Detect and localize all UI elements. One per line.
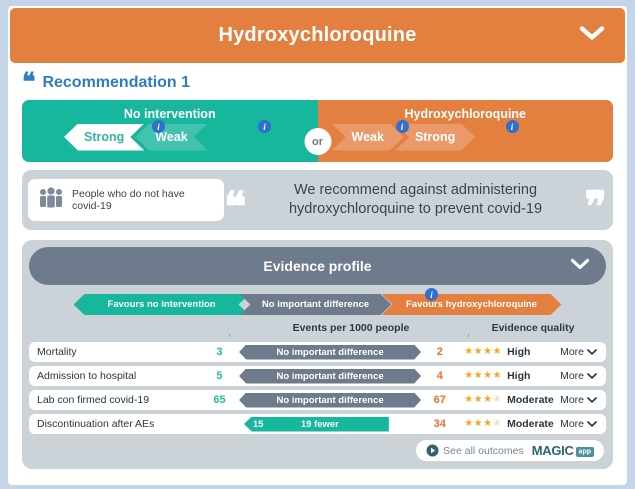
outcome-name: Lab con firmed covid-19 [29, 394, 200, 406]
more-button[interactable]: More [560, 346, 606, 358]
recommendation-strength-bar: No intervention Strong i Weak i Hydroxyc… [22, 100, 613, 162]
quality-label: Moderate [507, 418, 554, 430]
recommendation-heading: ❝ Recommendation 1 [8, 63, 627, 100]
intervention-events: 34 [421, 418, 458, 430]
strength-option-weak-intervention[interactable]: Weak [332, 124, 404, 151]
strength-side-no-intervention: No intervention Strong i Weak i [22, 100, 318, 162]
chevron-down-icon [587, 421, 597, 428]
favours-no-difference[interactable]: No important difference [240, 294, 392, 315]
card-header[interactable]: Hydroxychloroquine [10, 8, 625, 63]
effect-bar[interactable]: No important difference [239, 345, 422, 360]
magic-brand: MAGIC [532, 443, 574, 458]
quote-open-icon: ❝ [22, 77, 35, 89]
table-row[interactable]: Admission to hospital 5 No important dif… [29, 366, 606, 386]
evidence-quality: ★★★★ Moderate [458, 418, 560, 430]
more-button[interactable]: More [560, 418, 606, 430]
column-header-events: Events per 1000 people [225, 322, 477, 334]
magic-brand-tag: app [576, 447, 594, 457]
table-row[interactable]: Lab con firmed covid-19 65 No important … [29, 390, 606, 410]
favours-label: No important difference [262, 299, 369, 310]
effect-label: No important difference [239, 345, 421, 360]
evidence-quality: ★★★★ High [458, 370, 560, 382]
play-circle-icon [426, 444, 439, 457]
chevron-down-icon [587, 373, 597, 380]
effect-bar[interactable]: No important difference [239, 369, 422, 384]
column-header-quality: Evidence quality [481, 322, 585, 334]
intervention-events: 2 [421, 346, 458, 358]
see-all-outcomes-button[interactable]: See all outcomes [426, 444, 524, 457]
quality-stars: ★★★★ [464, 347, 502, 357]
intervention-events: 4 [421, 370, 458, 382]
page-root: Hydroxychloroquine ❝ Recommendation 1 No… [0, 0, 635, 489]
control-events: 15 [253, 419, 279, 430]
people-icon [38, 187, 64, 214]
chevron-down-icon [587, 349, 597, 356]
info-icon[interactable]: i [258, 120, 271, 133]
see-all-outcomes-label: See all outcomes [443, 445, 524, 457]
more-label: More [560, 346, 584, 358]
favours-intervention[interactable]: Favours hydroxychloroquine [382, 294, 562, 315]
more-button[interactable]: More [560, 394, 606, 406]
or-label: or [312, 136, 323, 148]
table-row[interactable]: Mortality 3 No important difference 2 ★★… [29, 342, 606, 362]
more-label: More [560, 394, 584, 406]
table-row[interactable]: Discontinuation after AEs 15 19 fewer 34… [29, 414, 606, 434]
chevron-down-icon [587, 397, 597, 404]
intervention-events: 67 [421, 394, 458, 406]
effect-bar-fewer: 15 19 fewer [244, 417, 389, 432]
strength-option-weak-no-intervention[interactable]: Weak [135, 124, 207, 151]
evidence-quality: ★★★★ High [458, 346, 560, 358]
recommendation-statement: We recommend against administering hydro… [247, 181, 585, 219]
favours-label: Favours hydroxychloroquine [406, 299, 537, 310]
favours-label: Favours no intervention [107, 299, 215, 310]
favours-legend: Favours no intervention No important dif… [29, 294, 606, 315]
info-icon[interactable]: i [396, 120, 409, 133]
chevron-down-icon[interactable] [579, 25, 605, 46]
outcome-name: Admission to hospital [29, 370, 200, 382]
magic-app-logo[interactable]: MAGICapp [532, 442, 594, 460]
or-divider: or [304, 128, 331, 155]
strength-option-strong-no-intervention[interactable]: Strong [64, 124, 144, 151]
evidence-profile-header[interactable]: Evidence profile [29, 247, 606, 285]
control-events: 65 [200, 394, 239, 406]
more-button[interactable]: More [560, 370, 606, 382]
favours-no-intervention[interactable]: Favours no intervention [74, 294, 250, 315]
evidence-quality: ★★★★ Moderate [458, 394, 560, 406]
quality-stars: ★★★★ [464, 371, 502, 381]
evidence-profile-title: Evidence profile [263, 258, 371, 274]
strength-option-label: Weak [352, 130, 384, 144]
recommendation-card: Hydroxychloroquine ❝ Recommendation 1 No… [8, 6, 627, 485]
strength-caption-left: No intervention [22, 100, 318, 121]
more-label: More [560, 370, 584, 382]
more-label: More [560, 418, 584, 430]
footer-pill: See all outcomes MAGICapp [416, 440, 604, 461]
info-icon[interactable]: i [506, 120, 519, 133]
evidence-profile-panel: Evidence profile Favours no intervention… [22, 240, 613, 469]
strength-option-label: Strong [415, 130, 455, 144]
outcome-name: Mortality [29, 346, 200, 358]
quality-stars: ★★★★ [464, 419, 502, 429]
outcome-name: Discontinuation after AEs [29, 418, 200, 430]
info-icon[interactable]: i [152, 120, 165, 133]
chevron-down-icon[interactable] [570, 257, 590, 275]
evidence-footer: See all outcomes MAGICapp [29, 438, 606, 461]
population-box[interactable]: People who do not have covid-19 [28, 179, 224, 221]
effect-label: No important difference [239, 393, 421, 408]
strength-side-intervention: Hydroxychloroquine Weak i Strong i [318, 100, 614, 162]
quality-label: High [507, 346, 530, 358]
quality-label: High [507, 370, 530, 382]
quality-stars: ★★★★ [464, 395, 502, 405]
info-icon[interactable]: i [425, 288, 438, 301]
strength-caption-right: Hydroxychloroquine [318, 100, 614, 121]
recommendation-label: Recommendation 1 [42, 74, 190, 92]
strength-option-label: Strong [84, 130, 124, 144]
effect-bar[interactable]: No important difference [239, 393, 422, 408]
effect-label: 19 fewer [279, 419, 389, 430]
page-title: Hydroxychloroquine [218, 24, 416, 47]
quality-label: Moderate [507, 394, 554, 406]
recommendation-statement-panel: People who do not have covid-19 ❝ We rec… [22, 170, 613, 230]
control-events: 5 [200, 370, 239, 382]
population-label: People who do not have covid-19 [72, 188, 214, 213]
table-column-headers: Events per 1000 people Evidence quality [29, 321, 606, 341]
control-events: 3 [200, 346, 239, 358]
effect-label: No important difference [239, 369, 421, 384]
